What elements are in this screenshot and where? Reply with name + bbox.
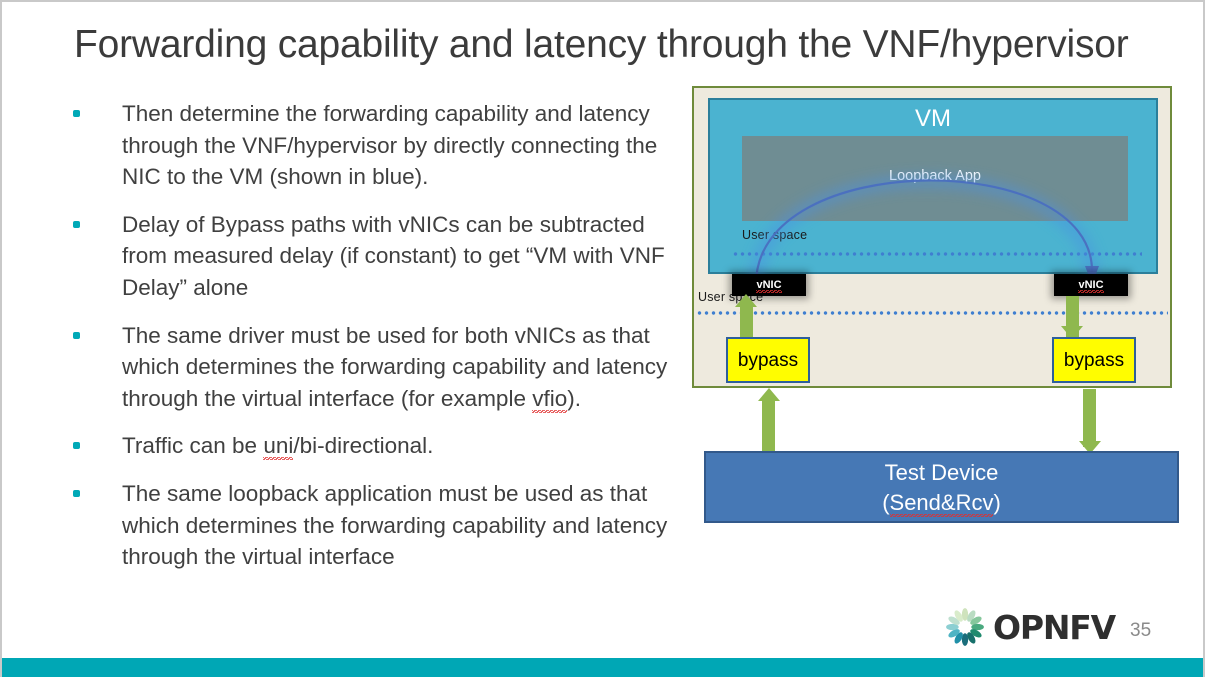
page-number: 35 — [1130, 620, 1151, 642]
slide: Forwarding capability and latency throug… — [0, 0, 1205, 677]
bypass-box-right: bypass — [1052, 337, 1136, 383]
list-item-text-pre: Traffic can be — [122, 433, 263, 458]
bullet-list: Then determine the forwarding capability… — [64, 98, 674, 589]
test-device-subtitle-post: ) — [993, 490, 1000, 515]
list-item-text: Delay of Bypass paths with vNICs can be … — [122, 209, 674, 304]
opnfv-petal-mark-icon — [943, 606, 987, 648]
bullet-dot-icon — [73, 490, 80, 497]
hypervisor-host-container: VM Loopback App User space User space vN… — [692, 86, 1172, 388]
loopback-app-label: Loopback App — [742, 168, 1128, 184]
test-device-subtitle-pre: ( — [882, 490, 889, 515]
list-item-text-post: /bi-directional. — [293, 433, 433, 458]
opnfv-wordmark: OPNFV — [993, 608, 1115, 647]
bottom-accent-bar — [2, 658, 1203, 677]
bypass-box-left: bypass — [726, 337, 810, 383]
list-item-text-post: ). — [567, 386, 581, 411]
list-item: Then determine the forwarding capability… — [64, 98, 674, 193]
opnfv-logo: OPNFV — [943, 606, 1115, 648]
bullet-dot-icon — [73, 442, 80, 449]
list-item-text-pre: The same driver must be used for both vN… — [122, 323, 667, 411]
page-title: Forwarding capability and latency throug… — [74, 16, 1184, 74]
list-item: Delay of Bypass paths with vNICs can be … — [64, 209, 674, 304]
bullet-dot-icon — [73, 110, 80, 117]
host-kernel-boundary-line — [696, 311, 1168, 315]
list-item: Traffic can be uni/bi-directional. — [64, 430, 674, 462]
list-item: The same driver must be used for both vN… — [64, 320, 674, 415]
spellcheck-word: vfio — [532, 386, 567, 413]
spellcheck-word: Send&Rcv — [890, 490, 994, 517]
vm-user-space-label: User space — [742, 228, 807, 242]
test-device-subtitle: (Send&Rcv) — [706, 488, 1177, 518]
list-item: The same loopback application must be us… — [64, 478, 674, 573]
vm-kernel-boundary-line — [732, 252, 1142, 256]
bullet-dot-icon — [73, 332, 80, 339]
spellcheck-word: uni — [263, 433, 293, 460]
arrow-bypass-to-vnic-left — [740, 303, 753, 339]
vm-box: VM Loopback App User space — [708, 98, 1158, 274]
vnic-right: vNIC — [1054, 274, 1128, 296]
arrow-bypass-to-testdevice-right — [1083, 389, 1096, 447]
bullet-dot-icon — [73, 221, 80, 228]
list-item-text: The same loopback application must be us… — [122, 478, 674, 573]
arrow-head-up-left-icon — [735, 294, 757, 307]
list-item-text: Traffic can be uni/bi-directional. — [122, 430, 674, 462]
vnic-right-label: vNIC — [1078, 279, 1103, 293]
loopback-app-box: Loopback App — [742, 136, 1128, 221]
vnic-left: vNIC — [732, 274, 806, 296]
list-item-text: Then determine the forwarding capability… — [122, 98, 674, 193]
arrow-head-up-external-left-icon — [758, 388, 780, 401]
list-item-text: The same driver must be used for both vN… — [122, 320, 674, 415]
vnic-left-label: vNIC — [756, 279, 781, 293]
vm-label: VM — [710, 105, 1156, 133]
test-device-box: Test Device (Send&Rcv) — [704, 451, 1179, 523]
test-device-title: Test Device — [706, 458, 1177, 488]
